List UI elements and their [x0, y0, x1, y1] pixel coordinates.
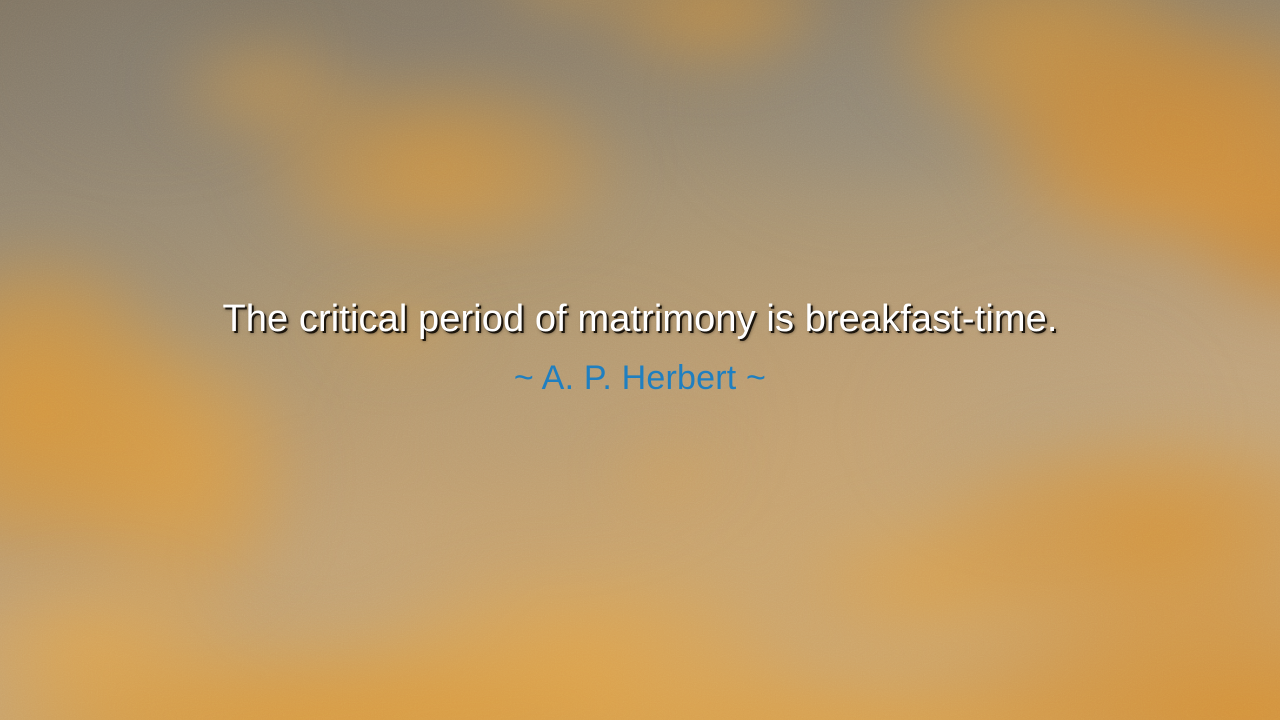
quote-wallpaper: The critical period of matrimony is brea… [0, 0, 1280, 720]
cloud-layer-lower [0, 0, 1280, 720]
